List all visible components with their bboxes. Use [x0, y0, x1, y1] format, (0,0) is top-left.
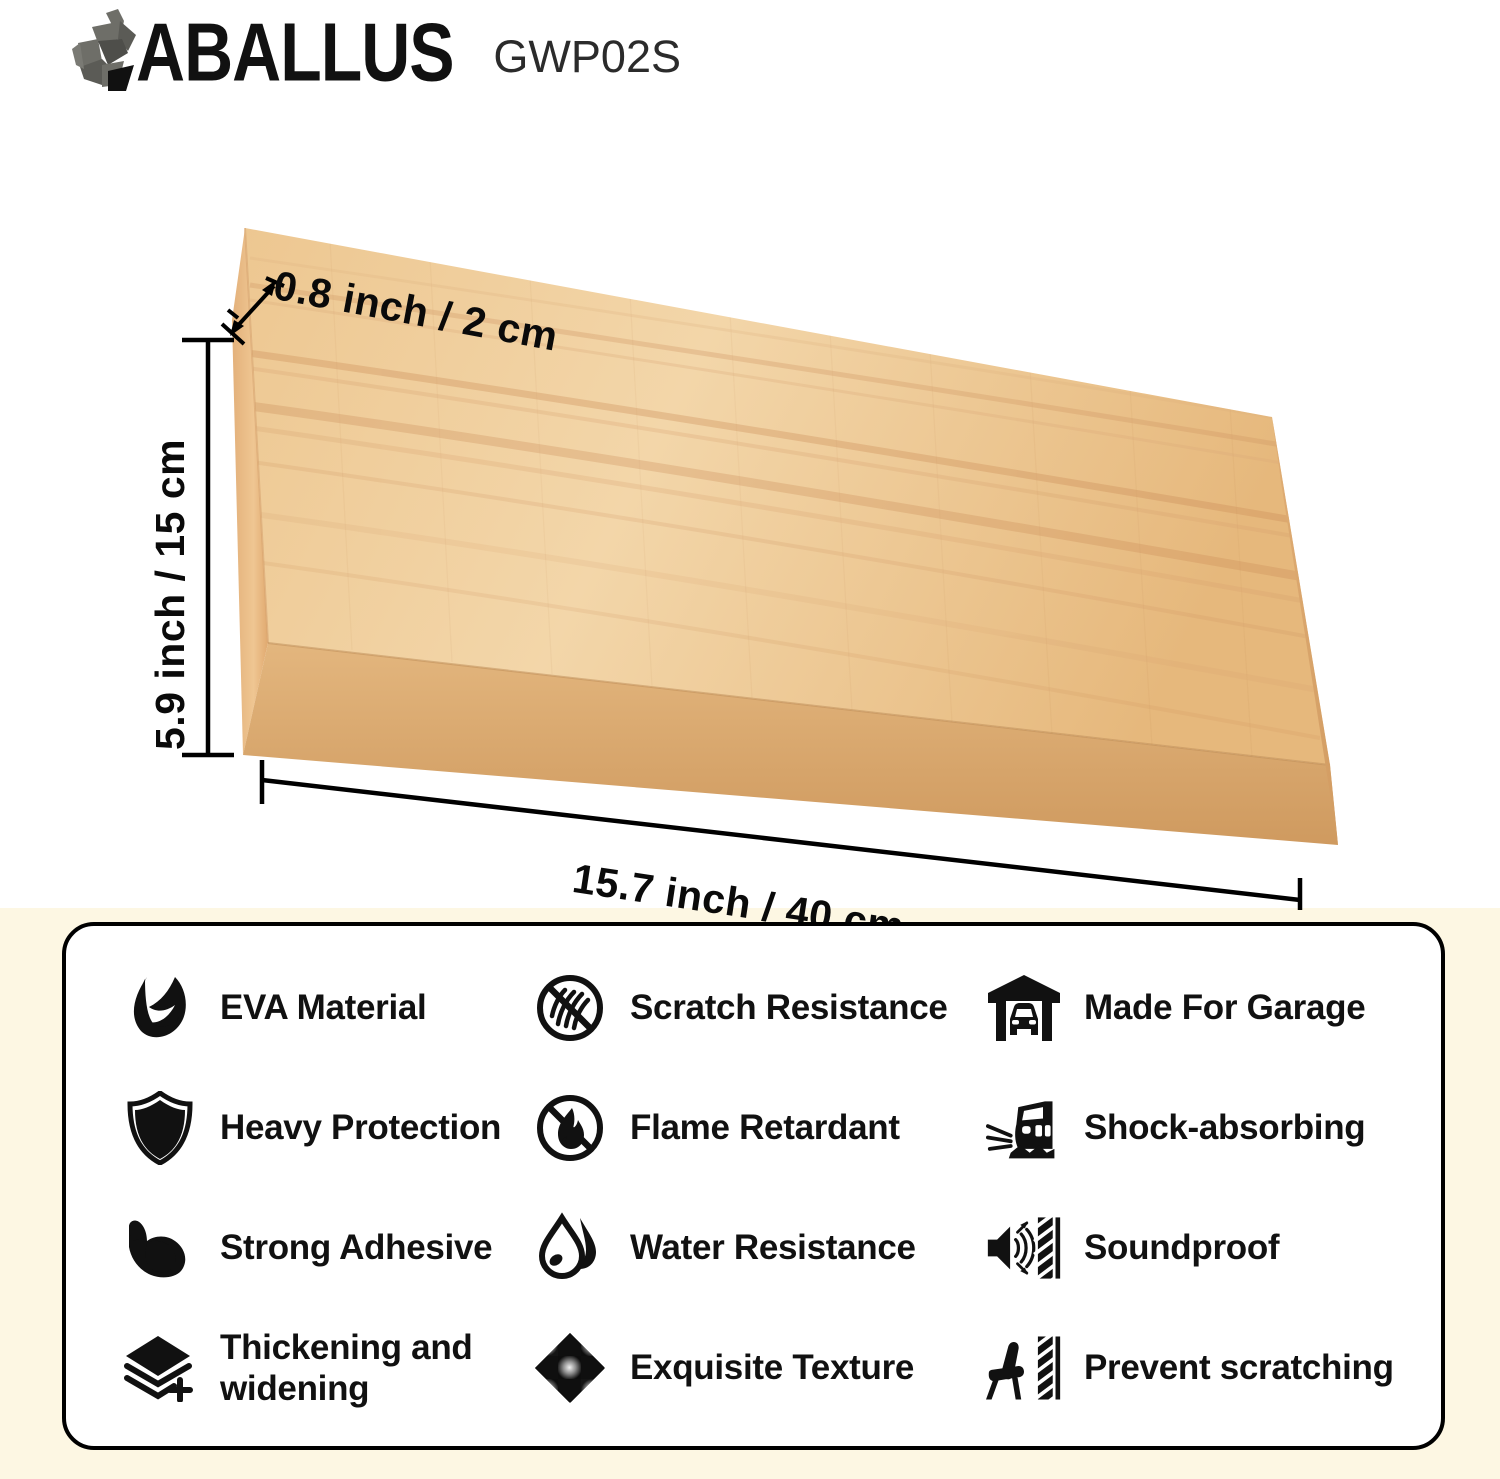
feature-exquisite-texture: Exquisite Texture [518, 1308, 970, 1428]
feature-flame-retardant: Flame Retardant [518, 1068, 970, 1188]
chair-wall-icon [986, 1330, 1062, 1406]
height-dimension-label: 5.9 inch / 15 cm [150, 439, 191, 750]
brand-name: ABALLUS [136, 11, 454, 94]
diamond-texture-icon [532, 1330, 608, 1406]
brand-header: ABALLUS GWP02S [62, 6, 681, 98]
product-model-number: GWP02S [493, 34, 681, 79]
feature-label: Made For Garage [1084, 987, 1365, 1028]
feature-eva-material: EVA Material [66, 948, 518, 1068]
feature-label: Scratch Resistance [630, 987, 948, 1028]
garage-car-icon [986, 970, 1062, 1046]
feature-shock-absorbing: Shock-absorbing [970, 1068, 1441, 1188]
feature-label: Exquisite Texture [630, 1347, 914, 1388]
no-scratch-icon [532, 970, 608, 1046]
feature-label: Soundproof [1084, 1227, 1279, 1268]
shield-icon [122, 1090, 198, 1166]
feature-label: Prevent scratching [1084, 1347, 1394, 1388]
feature-label: Strong Adhesive [220, 1227, 492, 1268]
feature-label: Heavy Protection [220, 1107, 501, 1148]
feature-scratch-resistance: Scratch Resistance [518, 948, 970, 1068]
feature-label: Water Resistance [630, 1227, 916, 1268]
no-flame-icon [532, 1090, 608, 1166]
features-card: EVA Material Scratch Resistance [62, 922, 1445, 1450]
feature-water-resistance: Water Resistance [518, 1188, 970, 1308]
speaker-wall-icon [986, 1210, 1062, 1286]
water-drop-icon [532, 1210, 608, 1286]
features-grid: EVA Material Scratch Resistance [66, 926, 1441, 1446]
stacked-layers-plus-icon [122, 1330, 198, 1406]
feature-label: EVA Material [220, 987, 426, 1028]
feature-made-for-garage: Made For Garage [970, 948, 1441, 1068]
car-impact-icon [986, 1090, 1062, 1166]
feature-heavy-protection: Heavy Protection [66, 1068, 518, 1188]
product-illustration: 0.8 inch / 2 cm 5.9 inch / 15 cm 15.7 in… [0, 110, 1500, 910]
flexed-bicep-icon [122, 1210, 198, 1286]
feature-prevent-scratching: Prevent scratching [970, 1308, 1441, 1428]
feature-soundproof: Soundproof [970, 1188, 1441, 1308]
feature-label: Flame Retardant [630, 1107, 900, 1148]
leaf-icon [122, 970, 198, 1046]
feature-thickening-and-widening: Thickening and widening [66, 1308, 518, 1428]
feature-strong-adhesive: Strong Adhesive [66, 1188, 518, 1308]
feature-label: Thickening and widening [220, 1327, 518, 1410]
feature-label: Shock-absorbing [1084, 1107, 1365, 1148]
